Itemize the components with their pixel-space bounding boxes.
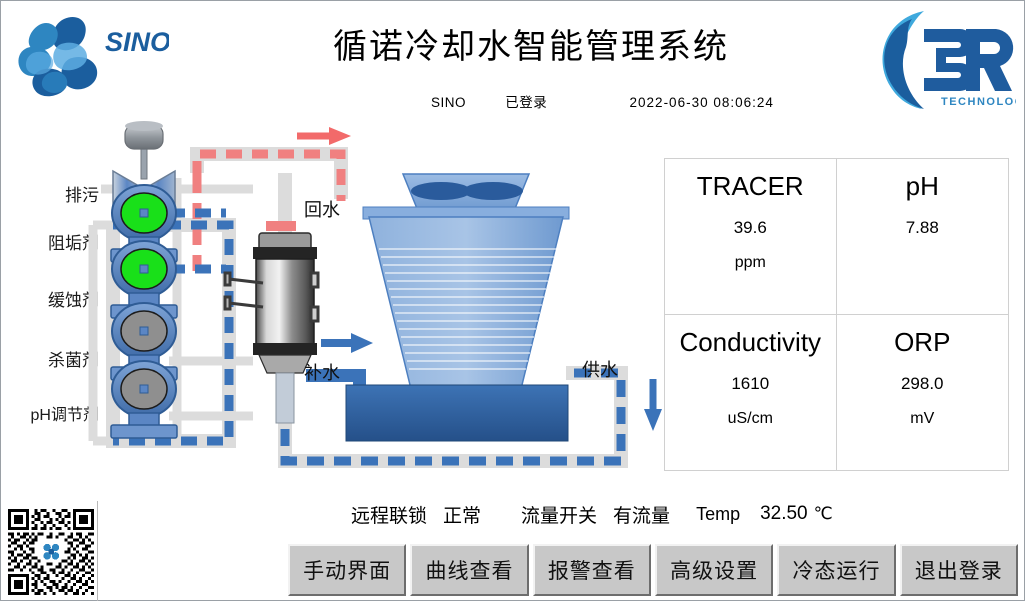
status-strip: 远程联锁 正常 流量开关 有流量 Temp 32.50 ℃ <box>351 499 1011 529</box>
remote-interlock-value: 正常 <box>443 501 481 528</box>
temperature-value: 32.50 <box>760 503 808 525</box>
supply-flow-arrow-icon <box>644 379 662 431</box>
reading-orp-value: 298.0 <box>901 374 944 394</box>
sino-logo-text: SINO <box>105 27 169 57</box>
cold-start-button[interactable]: 冷态运行 <box>777 544 895 596</box>
analyzer-chamber-icon[interactable] <box>225 221 318 423</box>
reading-orp[interactable]: ORP 298.0 mV <box>837 315 1009 471</box>
reading-ph[interactable]: pH 7.88 <box>837 159 1009 315</box>
label-return-water: 回水 <box>304 196 340 222</box>
reading-conductivity-name: Conductivity <box>679 327 821 358</box>
makeup-flow-arrow-icon <box>321 333 373 353</box>
reading-orp-name: ORP <box>894 327 950 358</box>
login-status: 已登录 <box>505 91 625 111</box>
reading-conductivity[interactable]: Conductivity 1610 uS/cm <box>665 315 837 471</box>
app-window: SINO 循诺冷却水智能管理系统 SINO 已登录 2022-06-30 08:… <box>0 0 1025 601</box>
label-supply-water: 供水 <box>582 356 618 382</box>
pump-ph-adjust-icon[interactable] <box>111 361 177 438</box>
manual-interface-button[interactable]: 手动界面 <box>288 544 406 596</box>
reading-ph-name: pH <box>906 171 939 202</box>
flow-switch-label: 流量开关 <box>521 501 597 528</box>
temperature-unit: ℃ <box>814 504 833 524</box>
reading-conductivity-value: 1610 <box>731 374 769 394</box>
alarm-view-button[interactable]: 报警查看 <box>533 544 651 596</box>
login-user: SINO <box>431 95 501 110</box>
process-diagram <box>1 121 666 491</box>
cooling-tower-icon <box>346 174 569 441</box>
reading-conductivity-unit: uS/cm <box>728 410 773 428</box>
bottom-toolbar: 手动界面 曲线查看 报警查看 高级设置 冷态运行 退出登录 <box>288 544 1018 596</box>
reading-ph-value: 7.88 <box>906 218 939 238</box>
sino-logo: SINO <box>9 9 169 101</box>
page-title: 循诺冷却水智能管理系统 <box>271 19 791 68</box>
return-flow-arrow-icon <box>297 127 351 145</box>
curve-view-button[interactable]: 曲线查看 <box>410 544 528 596</box>
reading-tracer-name: TRACER <box>697 171 804 202</box>
qr-code <box>7 509 95 595</box>
reading-tracer[interactable]: TRACER 39.6 ppm <box>665 159 837 315</box>
system-datetime: 2022-06-30 08:06:24 <box>630 95 774 110</box>
left-divider <box>97 501 98 601</box>
3r-technology-logo: TECHNOLOGY <box>866 5 1016 115</box>
logout-button[interactable]: 退出登录 <box>900 544 1018 596</box>
reading-tracer-unit: ppm <box>735 254 766 272</box>
temperature-label: Temp <box>696 504 740 525</box>
reading-orp-unit: mV <box>910 410 934 428</box>
readings-panel: TRACER 39.6 ppm pH 7.88 Conductivity 161… <box>664 158 1009 471</box>
remote-interlock-label: 远程联锁 <box>351 501 427 528</box>
reading-tracer-value: 39.6 <box>734 218 767 238</box>
flow-switch-value: 有流量 <box>613 501 670 528</box>
3r-logo-subtitle: TECHNOLOGY <box>941 96 1016 108</box>
advanced-settings-button[interactable]: 高级设置 <box>655 544 773 596</box>
label-makeup-water: 补水 <box>304 359 340 385</box>
